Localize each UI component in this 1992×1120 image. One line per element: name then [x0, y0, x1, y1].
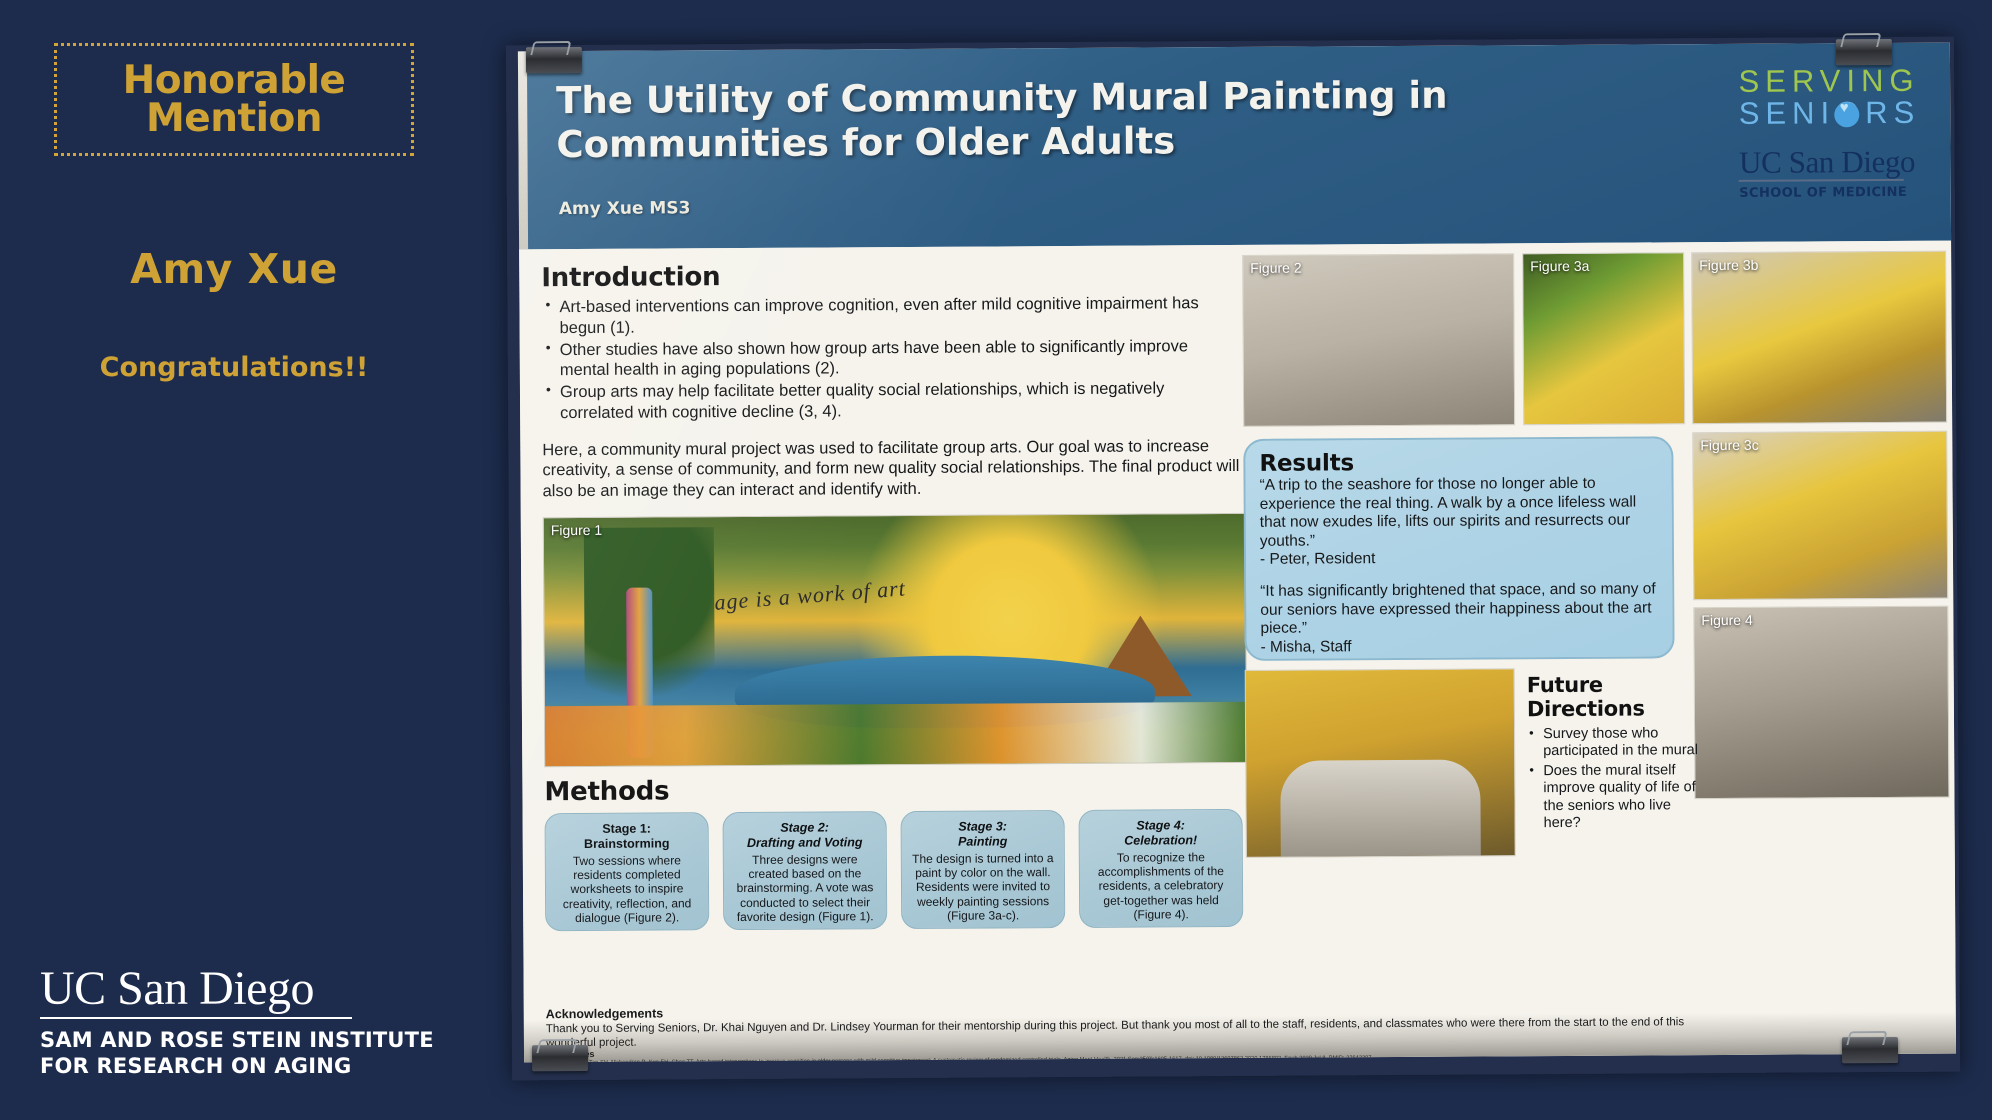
results-heading: Results	[1259, 448, 1657, 476]
figure-3b-image: Figure 3b	[1691, 251, 1947, 425]
slide-canvas: Honorable Mention Amy Xue Congratulation…	[0, 0, 1992, 1120]
future-directions-bullet-list: Survey those who participated in the mur…	[1527, 725, 1700, 832]
ucsd-som-subtitle: SCHOOL OF MEDICINE	[1739, 185, 1921, 201]
heart-icon	[1835, 102, 1860, 127]
list-item: Survey those who participated in the mur…	[1527, 725, 1699, 761]
introduction-heading: Introduction	[541, 259, 1241, 293]
stage-2-body: Three designs were created based on the …	[731, 852, 879, 925]
stage-2-title: Stage 2:	[731, 820, 879, 836]
methods-stage-3: Stage 3: Painting The design is turned i…	[901, 810, 1066, 929]
methods-stage-1: Stage 1: Brainstorming Two sessions wher…	[545, 812, 710, 931]
serving-seniors-line2: SENIORS	[1739, 96, 1921, 129]
poster-sheet: The Utility of Community Mural Painting …	[518, 43, 1956, 1063]
figure-1-mural-image: age is a work of art Figure 1	[543, 513, 1248, 767]
results-attribution-2: - Misha, Staff	[1260, 636, 1658, 657]
mural-flowers	[545, 702, 1246, 766]
methods-heading: Methods	[544, 773, 1247, 807]
poster-header-band: The Utility of Community Mural Painting …	[518, 43, 1951, 250]
binder-clip-top-left	[526, 47, 582, 73]
methods-stage-4: Stage 4: Celebration! To recognize the a…	[1079, 809, 1244, 928]
serving-seniors-line2-text: SENIORS	[1739, 94, 1921, 130]
ucsd-som-wordmark: UC San Diego	[1739, 146, 1921, 178]
stage-2-subtitle: Drafting and Voting	[731, 835, 879, 851]
figure-2-image: Figure 2	[1242, 253, 1515, 427]
results-quote-1: “A trip to the seashore for those no lon…	[1260, 474, 1658, 551]
ucsd-logo-rule	[40, 1017, 352, 1019]
figure-3a-label: Figure 3a	[1530, 258, 1589, 274]
list-item: Other studies have also shown how group …	[542, 336, 1242, 382]
future-directions-section: Future Directions Survey those who parti…	[1527, 672, 1700, 834]
methods-stage-2: Stage 2: Drafting and Voting Three desig…	[723, 811, 888, 930]
figure-3a-image: Figure 3a	[1522, 252, 1685, 425]
congratulations-text: Congratulations!!	[44, 352, 424, 383]
figure-4-image: Figure 4	[1693, 606, 1949, 800]
methods-section: Methods Stage 1: Brainstorming Two sessi…	[544, 773, 1248, 931]
list-item: Art-based interventions can improve cogn…	[541, 293, 1241, 339]
stein-institute-line2: FOR RESEARCH ON AGING	[40, 1054, 440, 1080]
figure-3b-label: Figure 3b	[1699, 257, 1758, 273]
results-attribution-1: - Peter, Resident	[1260, 549, 1658, 570]
results-section: Results “A trip to the seashore for thos…	[1243, 436, 1674, 661]
stage-3-body: The design is turned into a paint by col…	[909, 851, 1057, 924]
list-item: Does the mural itself improve quality of…	[1527, 762, 1699, 833]
honorable-mention-badge: Honorable Mention	[54, 43, 414, 156]
introduction-paragraph: Here, a community mural project was used…	[542, 436, 1242, 503]
binder-clip-top-right	[1836, 39, 1892, 65]
binder-clip-bottom-right	[1842, 1037, 1898, 1063]
stage-3-title: Stage 3:	[909, 819, 1057, 835]
stage-1-title: Stage 1:	[553, 821, 701, 837]
stage-4-body: To recognize the accomplishments of the …	[1087, 849, 1235, 922]
stein-institute-line1: SAM AND ROSE STEIN INSTITUTE	[40, 1028, 440, 1054]
figure-3c-label: Figure 3c	[1700, 437, 1758, 453]
stage-3-subtitle: Painting	[909, 834, 1057, 850]
stage-1-body: Two sessions where residents completed w…	[553, 853, 701, 926]
list-item: Group arts may help facilitate better qu…	[542, 378, 1242, 424]
figure-3c-image: Figure 3c	[1692, 431, 1948, 601]
winner-name: Amy Xue	[54, 245, 414, 293]
introduction-section: Introduction Art-based interventions can…	[541, 259, 1242, 502]
results-quote-2: “It has significantly brightened that sp…	[1260, 580, 1658, 638]
future-directions-heading: Future Directions	[1527, 672, 1699, 721]
celebration-group-photo	[1245, 668, 1516, 858]
ucsd-stein-institute-logo: UC San Diego SAM AND ROSE STEIN INSTITUT…	[40, 965, 440, 1079]
award-title-line2: Mention	[123, 100, 346, 137]
figure-1-label: Figure 1	[551, 522, 602, 538]
ucsd-wordmark: UC San Diego	[40, 965, 440, 1014]
stage-4-subtitle: Celebration!	[1087, 833, 1235, 849]
serving-seniors-logo: SERVING SENIORS UC San Diego SCHOOL OF M…	[1738, 65, 1920, 201]
introduction-bullet-list: Art-based interventions can improve cogn…	[541, 293, 1242, 424]
stage-1-subtitle: Brainstorming	[553, 836, 701, 852]
figure-2-label: Figure 2	[1250, 260, 1301, 276]
poster-body: Introduction Art-based interventions can…	[519, 241, 1956, 1063]
poster-photo: The Utility of Community Mural Painting …	[509, 41, 1957, 1076]
stage-4-title: Stage 4:	[1087, 818, 1235, 834]
methods-stage-list: Stage 1: Brainstorming Two sessions wher…	[545, 809, 1249, 931]
ucsd-school-of-medicine-logo: UC San Diego SCHOOL OF MEDICINE	[1739, 146, 1921, 201]
binder-clip-bottom-left	[532, 1045, 588, 1071]
award-title: Honorable Mention	[123, 62, 346, 137]
figure-4-label: Figure 4	[1701, 612, 1752, 628]
poster-title: The Utility of Community Mural Painting …	[556, 73, 1617, 167]
poster-author: Amy Xue MS3	[559, 198, 691, 219]
serving-seniors-line1: SERVING	[1738, 65, 1920, 98]
